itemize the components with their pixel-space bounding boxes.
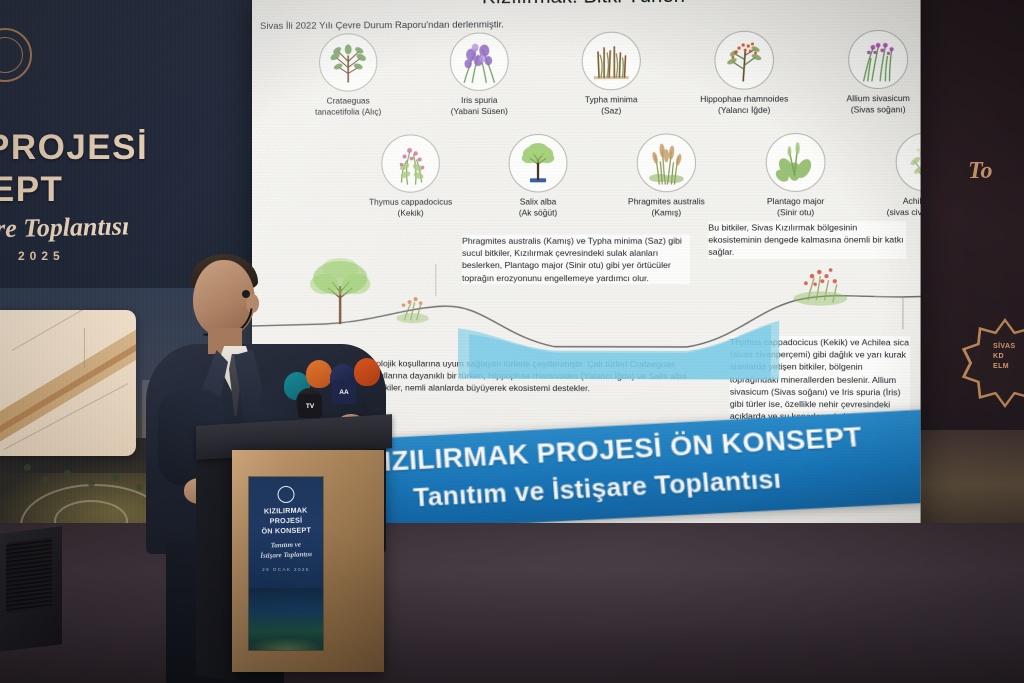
backdrop-left-date: 2025 [18,249,65,263]
species-item: Plantago major (Sinir otu) [746,133,845,218]
species-row-2: Thymus cappadocicus (Kekik) [362,132,920,218]
phragmites-icon [637,133,696,192]
podium-body: KIZILIRMAK PROJESİ ÖN KONSEPT Tanıtım ve… [232,450,384,672]
species-label: Iris spuria (Yabani Süsen) [431,95,528,117]
species-label: Thymus cappadocicus (Kekik) [362,197,459,218]
backdrop-left-title-line1: PROJESİ [0,128,236,168]
seabuckthorn-icon [714,31,774,90]
podium-sign-title: KIZILIRMAK PROJESİ ÖN KONSEPT [249,505,324,536]
species-label: Typha minima (Saz) [562,94,660,116]
photo-stage: PROJESİ SEPT şare Toplantısı 2025 [0,0,1024,683]
circular-gold-emblem-icon [0,28,32,82]
backdrop-left-script: şare Toplantısı [0,211,130,244]
species-row-1: Crataeguas tanacetifolia (Alıç) [300,30,921,117]
species-label: Achilea sica (sivas civanperçemi) [876,196,921,218]
star-emblem-text: SİVAS KD ELM [993,342,1024,372]
microphone-head [354,358,380,386]
podium-sign-logo-icon [278,486,295,503]
species-label: Allium sivasicum (Sivas soğanı) [829,93,921,115]
species-label: Plantago major (Sinir otu) [746,196,845,218]
podium-event-sign: KIZILIRMAK PROJESİ ÖN KONSEPT Tanıtım ve… [248,476,324,651]
slide-title: Kızılırmak: Bitki Türleri [252,0,921,11]
earpiece-icon [242,290,250,298]
species-item: Achilea sica (sivas civanperçemi) [876,132,921,217]
reed-grass-icon [582,32,641,91]
achillea-icon [896,132,921,191]
podium-side-panel [196,441,236,681]
plantago-icon [766,133,826,192]
event-banner: KIZILIRMAK PROJESİ ÖN KONSEPT Tanıtım ve… [348,395,921,531]
stage-monitor-speaker [0,526,62,652]
podium-sign-script: Tanıtım ve İstişare Toplantısı [249,540,324,562]
microphone-flag: TV [298,394,322,418]
species-item: Phragmites australis (Kamış) [617,133,715,217]
species-item: Allium sivasicum (Sivas soğanı) [829,30,921,115]
species-label: Crataeguas tanacetifolia (Alıç) [300,95,396,117]
species-item: Iris spuria (Yabani Süsen) [431,32,528,116]
allium-icon [848,30,908,89]
species-label: Phragmites australis (Kamış) [617,196,715,218]
podium-sign-date: 26 OCAK 2025 [249,567,323,572]
species-label: Salix alba (Ak söğüt) [489,196,586,218]
backdrop-right-script: To [968,158,992,185]
willow-tree-icon [509,134,568,193]
species-item: Salix alba (Ak söğüt) [489,134,586,218]
thyme-icon [381,134,439,192]
iris-flower-icon [450,32,509,91]
speaker-grill [6,537,52,613]
slide-source-note: Sivas İli 2022 Yılı Çevre Durum Raporu'n… [260,19,504,32]
species-item: Hippophae rhamnoides (Yalancı İğde) [695,31,794,116]
species-label: Hippophae rhamnoides (Yalancı İğde) [695,93,794,115]
shrub-branch-icon [319,33,377,91]
species-item: Typha minima (Saz) [562,31,660,116]
podium-sign-render-photo [249,588,323,650]
microphone-head [306,360,332,388]
render-inset-plan-card [0,310,136,456]
microphone-flag: AA [332,380,356,404]
species-item: Crataeguas tanacetifolia (Alıç) [300,33,396,117]
species-item: Thymus cappadocicus (Kekik) [362,134,459,218]
backdrop-left-title-line2: SEPT [0,170,216,210]
